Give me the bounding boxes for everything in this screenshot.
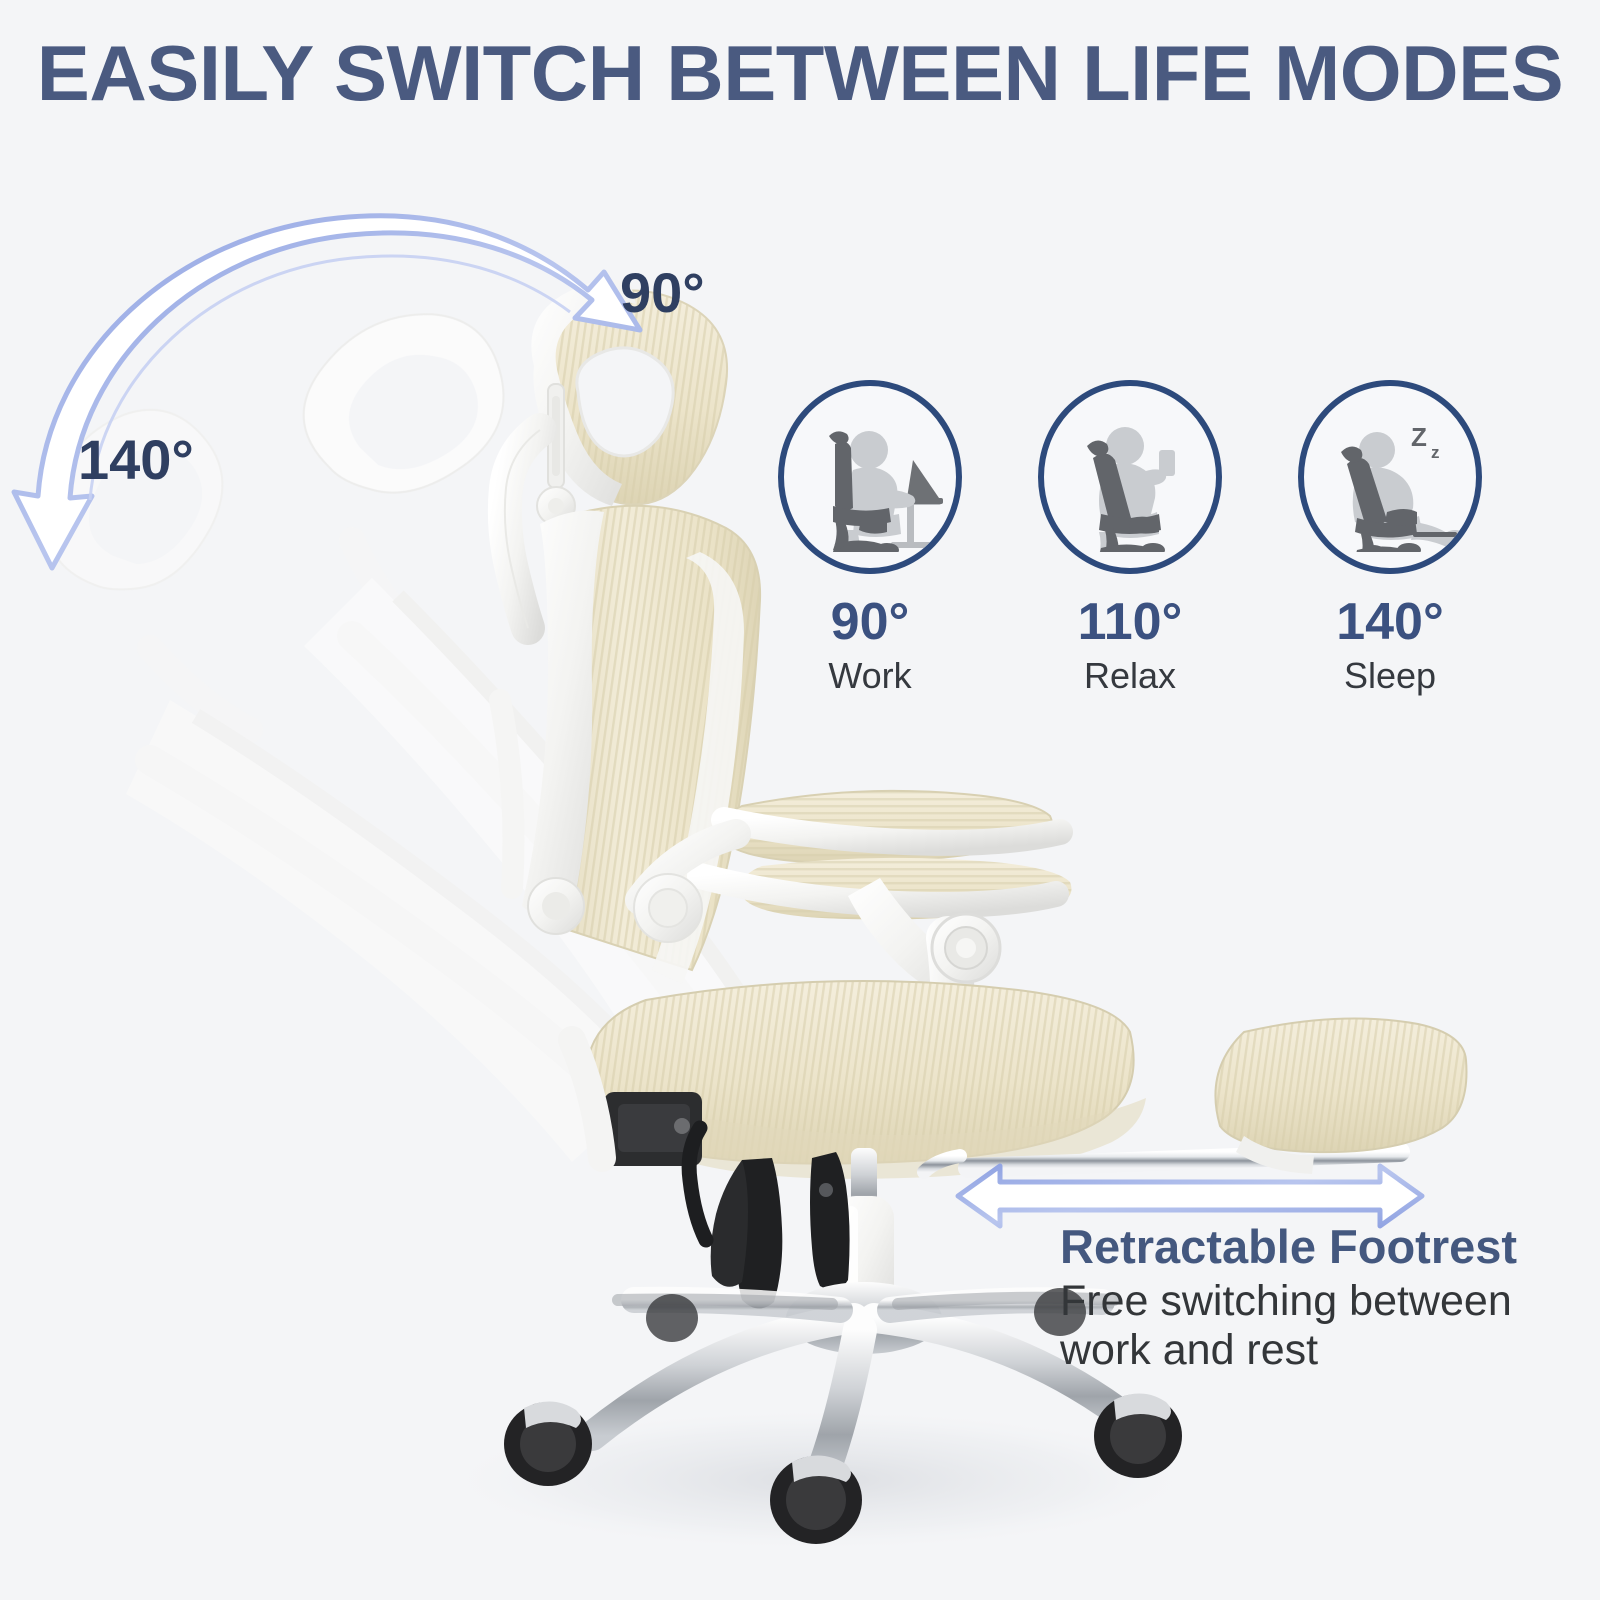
footrest-subtitle-line2: work and rest [1060, 1326, 1530, 1374]
footrest-subtitle: Free switching between work and rest [1060, 1277, 1530, 1373]
arc-angle-label-140: 140° [78, 432, 194, 488]
recline-arc-arrow [14, 216, 640, 568]
mode-item-relax[interactable]: 110° Relax [1030, 380, 1230, 696]
mode-name-sleep: Sleep [1344, 656, 1436, 696]
mode-angle-relax: 110° [1078, 596, 1183, 648]
mode-circle-relax [1038, 380, 1222, 574]
mode-name-work: Work [828, 656, 911, 696]
mode-circle-sleep: Z z [1298, 380, 1482, 574]
footrest-subtitle-line1: Free switching between [1060, 1277, 1530, 1325]
footrest-title: Retractable Footrest [1060, 1222, 1530, 1271]
person-sleeping-with-footrest-icon: Z z [1315, 402, 1465, 552]
footrest-extension-arrow [958, 1166, 1422, 1226]
footrest-caption: Retractable Footrest Free switching betw… [1060, 1222, 1530, 1374]
mode-name-relax: Relax [1084, 656, 1176, 696]
mode-item-work[interactable]: 90° Work [770, 380, 970, 696]
mode-item-sleep[interactable]: Z z [1290, 380, 1490, 696]
mode-angle-sleep: 140° [1336, 596, 1444, 648]
mode-angle-work: 90° [831, 596, 910, 648]
person-reclined-with-phone-icon [1055, 402, 1205, 552]
infographic-page: EASILY SWITCH BETWEEN LIFE MODES [0, 0, 1600, 1600]
sleep-z-large: Z [1411, 422, 1427, 452]
life-modes-row: 90° Work [770, 380, 1490, 696]
person-working-at-desk-icon [795, 402, 945, 552]
sleep-z-small: z [1431, 443, 1440, 462]
arc-angle-label-90: 90° [620, 265, 705, 321]
mode-circle-work [778, 380, 962, 574]
